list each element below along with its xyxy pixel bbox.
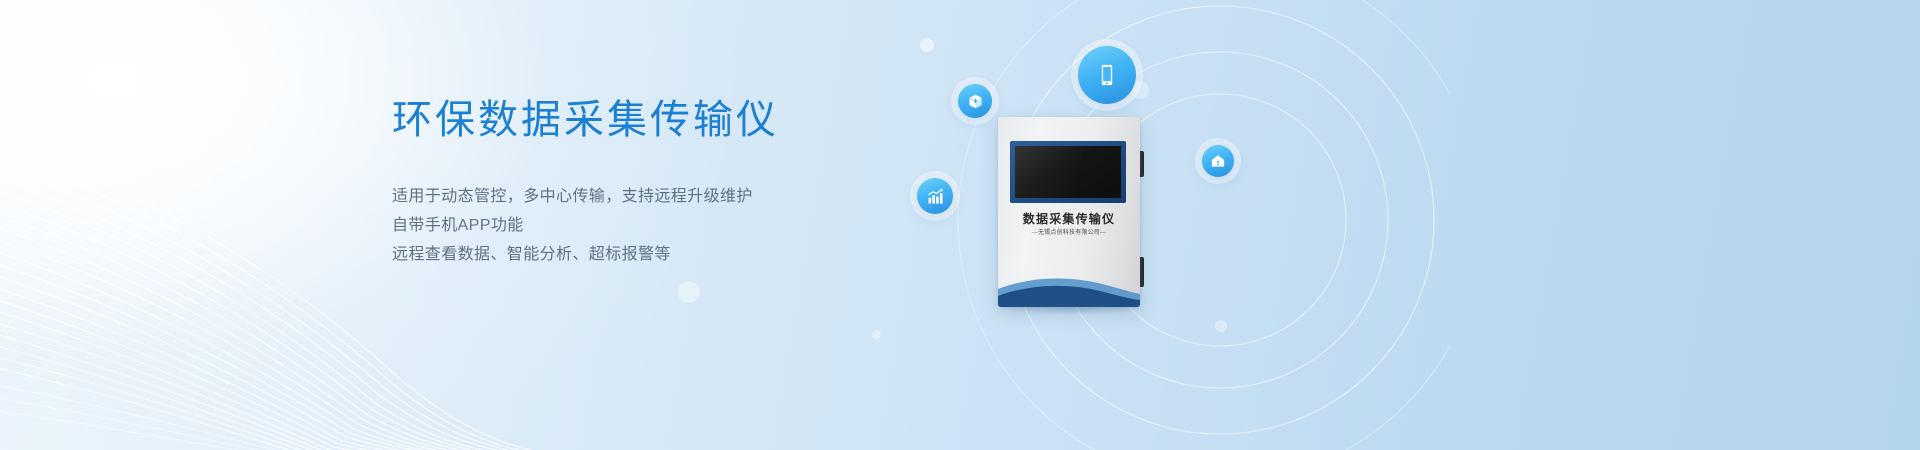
decorative-bubble [872,330,881,339]
decorative-bubble [678,281,700,303]
banner-copy: 环保数据采集传输仪 适用于动态管控，多中心传输，支持远程升级维护 自带手机APP… [392,96,952,269]
package-icon [958,84,992,118]
banner-description: 适用于动态管控，多中心传输，支持远程升级维护 自带手机APP功能 远程查看数据、… [392,182,952,269]
device-body: 数据采集传输仪 —无锡点创科技有限公司— [998,117,1140,307]
banner-headline: 环保数据采集传输仪 [392,96,952,144]
phone-icon [1078,46,1136,104]
device-brand-label: 数据采集传输仪 [998,210,1140,227]
device-screen-bezel [1010,141,1126,203]
chart-icon [917,178,953,214]
description-line-2: 自带手机APP功能 [392,211,952,240]
alarm-icon [1202,145,1234,177]
product-device: 数据采集传输仪 —无锡点创科技有限公司— [998,117,1140,307]
device-screen [1015,146,1121,198]
description-line-3: 远程查看数据、智能分析、超标报警等 [392,240,952,269]
decorative-bubble [920,38,934,52]
decorative-bubble [1215,320,1227,332]
device-company-label: —无锡点创科技有限公司— [998,227,1140,236]
description-line-1: 适用于动态管控，多中心传输，支持远程升级维护 [392,182,952,211]
product-banner: 环保数据采集传输仪 适用于动态管控，多中心传输，支持远程升级维护 自带手机APP… [0,0,1920,450]
device-wave-graphic [998,267,1140,307]
